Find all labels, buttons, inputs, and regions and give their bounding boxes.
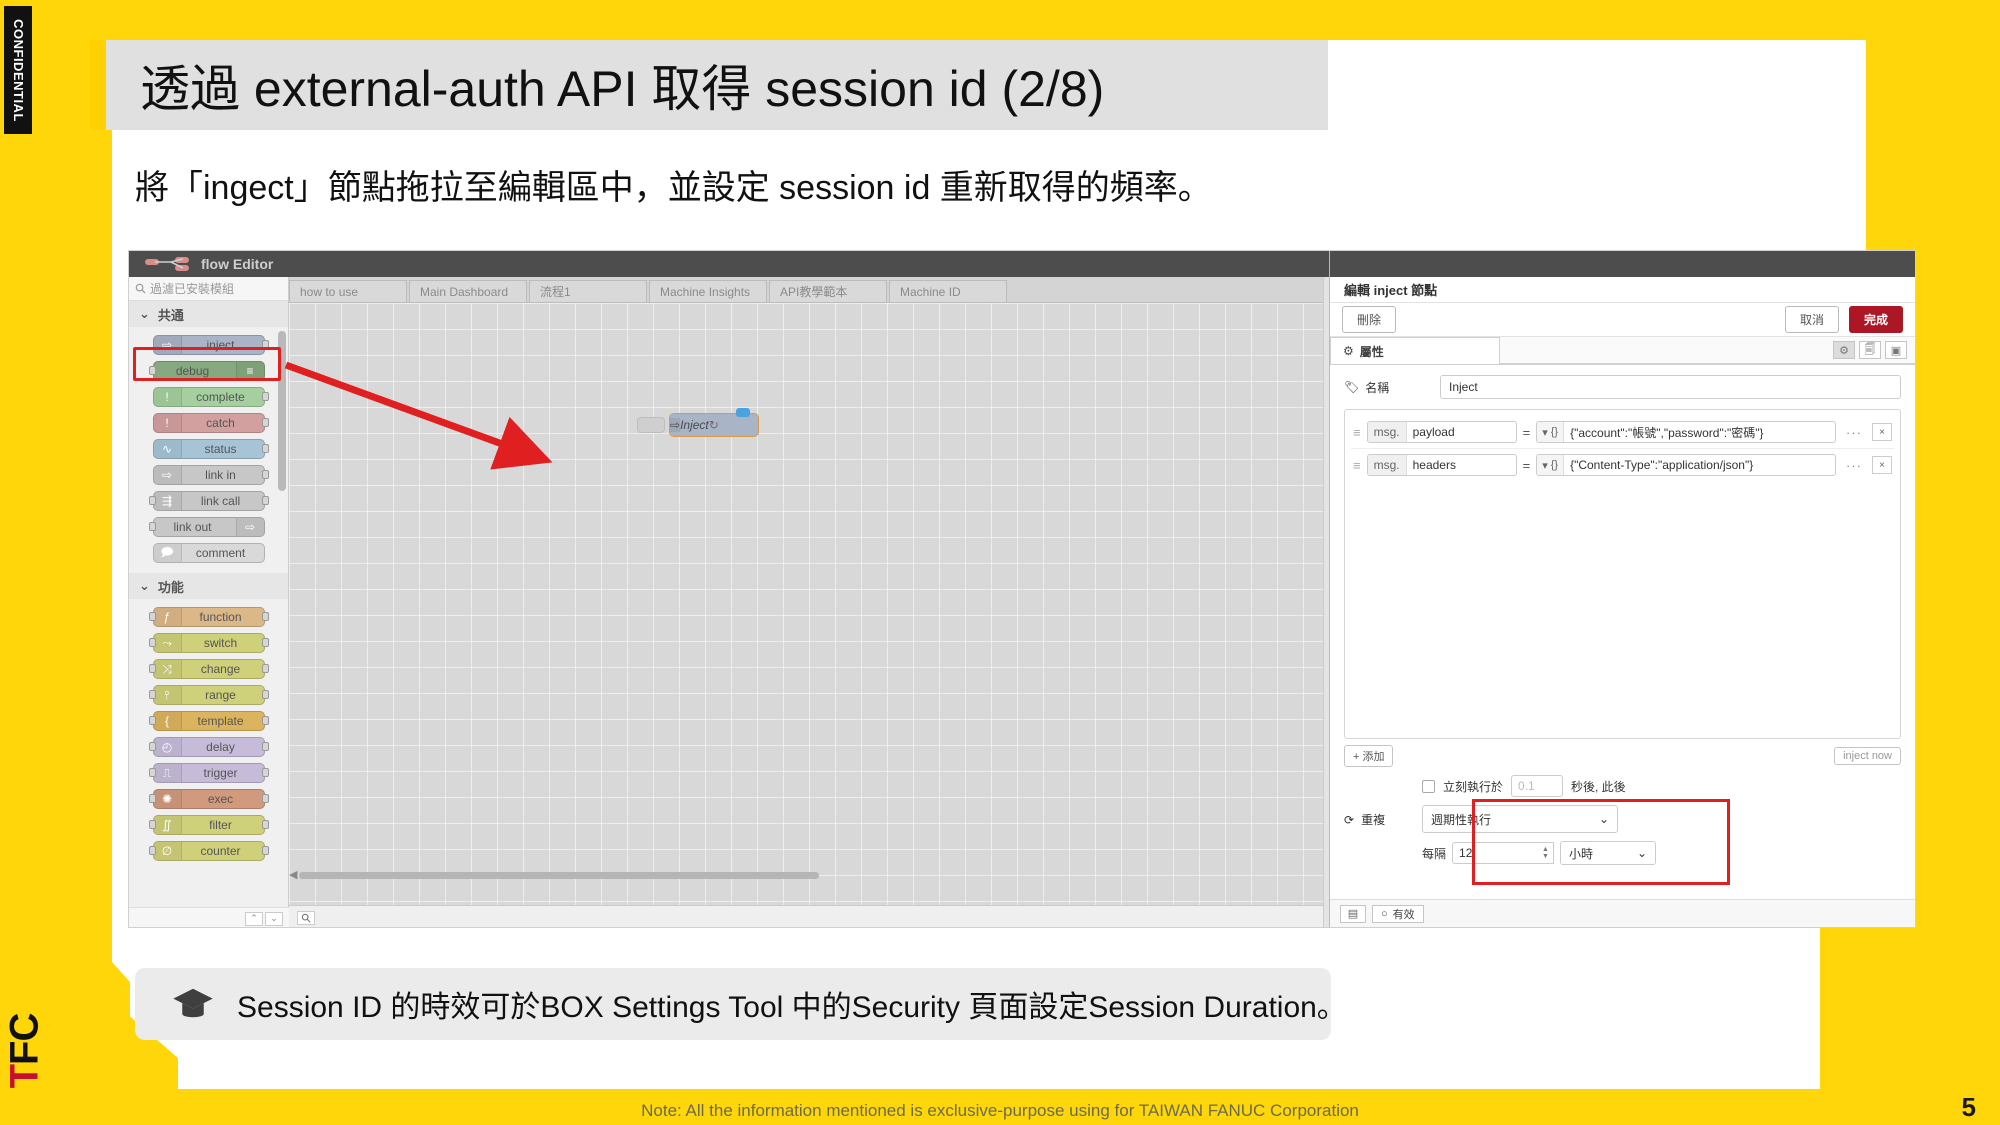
palette-node-switch[interactable]: ⤳ switch [153,633,265,653]
property-remove-button[interactable]: × [1872,423,1892,441]
inject-arrow-icon: ⇨ [670,418,680,432]
palette-node-range[interactable]: ⫯ range [153,685,265,705]
node-output-port [262,768,269,777]
tip-callout-text: Session ID 的時效可於BOX Settings Tool 中的Secu… [237,982,1347,1026]
flow-tab-bar: how to use Main Dashboard 流程1 Machine In… [289,277,1323,303]
page-number: 5 [1962,1092,1976,1123]
gear-icon[interactable]: ⚙ [1833,341,1855,359]
property-row-payload: ≡ msg. payload = ▾ {} {"account":"帳號","p… [1351,416,1894,449]
tab-flow-1[interactable]: 流程1 [529,280,647,302]
value-type-selector[interactable]: ▾ {} [1537,455,1564,475]
canvas-node-inject[interactable]: ⇨ Inject ↻ [669,413,759,437]
node-status-badge [736,408,750,417]
delete-button[interactable]: 刪除 [1342,306,1396,333]
palette-node-delay[interactable]: ◴ delay [153,737,265,757]
palette-node-label: catch [182,416,264,430]
graduation-cap-icon [171,987,215,1021]
palette-node-label: change [182,662,264,676]
palette-node-trigger[interactable]: ⎍ trigger [153,763,265,783]
immediate-delay-value: 0.1 [1518,779,1535,793]
palette-node-label: exec [182,792,264,806]
link-arrow-icon: ⇨ [236,518,264,536]
property-expand-icon[interactable]: ··· [1842,425,1866,440]
chevron-down-icon: ⌄ [139,578,150,594]
palette-node-label: comment [182,546,264,560]
editor-footer: ▤ ○ 有效 [1330,899,1916,927]
editor-tab-filler [1500,337,1825,364]
change-swap-icon: ⤨ [154,660,182,678]
tfc-logo-t: T [2,1065,46,1088]
palette-group-common[interactable]: ⌄ 共通 [129,301,288,327]
top-yellow-strip [0,0,2000,40]
property-key: payload [1407,425,1461,439]
name-field-label-group: 🏷 名稱 [1344,379,1430,396]
name-input[interactable]: Inject [1440,375,1901,399]
name-field-label: 名稱 [1365,379,1389,396]
link-arrow-icon: ⇨ [154,466,182,484]
node-input-port [149,846,156,855]
counter-icon: ∅ [154,842,182,860]
palette-node-label: link in [182,468,264,482]
palette-node-label: function [182,610,264,624]
palette-node-link-in[interactable]: ⇨ link in [153,465,265,485]
editor-tab-icon-group: ⚙ 🗐 ▣ [1825,337,1915,364]
tab-label: 流程1 [540,283,571,300]
flow-canvas[interactable]: ⇨ Inject ↻ ◀ [289,303,1323,905]
property-value-payload[interactable]: ▾ {} {"account":"帳號","password":"密碼"} [1536,421,1836,443]
repeat-label: 重複 [1361,811,1385,828]
node-input-port [149,366,156,375]
repeat-interval-input[interactable]: 12 [1452,842,1538,864]
node-red-title: flow Editor [201,256,273,272]
pulse-square-icon: ⎍ [154,764,182,782]
palette-node-counter[interactable]: ∅ counter [153,841,265,861]
value-type-selector[interactable]: ▾ {} [1537,422,1564,442]
collapse-all-icon[interactable]: ⌃ [245,912,263,926]
property-value-text: {"Content-Type":"application/json"} [1564,458,1759,472]
palette-node-label: delay [182,740,264,754]
inject-now-button[interactable]: inject now [1834,747,1901,765]
property-prefix: msg. [1368,455,1407,475]
schedule-section: 立刻執行於 0.1 秒後, 此後 ⟳ 重複 週期性執行 ⌄ [1330,767,1915,865]
slide: CONFIDENTIAL TFC 透過 external-auth API 取得… [0,0,2000,1125]
tab-api-template[interactable]: API教學範本 [769,280,887,302]
page-title: 透過 external-auth API 取得 session id (2/8) [140,49,1104,121]
repeat-unit-value: 小時 [1569,845,1593,862]
palette-search-placeholder: 過濾已安裝模組 [150,280,234,297]
alert-icon: ! [154,414,182,432]
repeat-label-group: ⟳ 重複 [1344,805,1414,828]
node-output-port [262,742,269,751]
palette-node-label: link call [182,494,264,508]
palette-scroll-area[interactable]: ⌄ 共通 ⇨ inject debug [129,301,288,881]
palette-node-label: switch [182,636,264,650]
property-expand-icon[interactable]: ··· [1842,458,1866,473]
tab-label: Machine Insights [660,285,750,299]
node-output-port [262,392,269,401]
palette-node-label: filter [182,818,264,832]
switch-branch-icon: ⤳ [154,634,182,652]
immediate-inject-prefix: 立刻執行於 [1443,778,1503,795]
comment-bubble-icon: 🗩 [154,544,182,562]
link-call-icon: ⇶ [154,492,182,510]
immediate-delay-input[interactable]: 0.1 [1511,775,1563,797]
palette-group-function[interactable]: ⌄ 功能 [129,573,288,599]
repeat-controls: 週期性執行 ⌄ 每隔 12 ▲▼ [1422,805,1656,865]
node-output-port [262,496,269,505]
done-button[interactable]: 完成 [1849,306,1903,333]
node-red-screenshot: flow Editor 過濾已安裝模組 ⌄ 共通 [128,250,1916,928]
properties-footer: + 添加 inject now [1344,745,1901,767]
palette-node-catch[interactable]: ! catch [153,413,265,433]
value-type-label: {} [1551,426,1558,438]
chevron-down-icon: ⌄ [139,306,150,322]
circle-icon: ○ [1381,908,1388,920]
node-output-port [262,794,269,803]
node-red-body: 過濾已安裝模組 ⌄ 共通 ⇨ inject [129,277,1329,928]
template-brace-icon: { [154,712,182,730]
function-f-icon: ƒ [154,608,182,626]
property-key-headers[interactable]: msg. headers [1367,454,1517,476]
editor-tab-bar: ⚙ 屬性 ⚙ 🗐 ▣ [1330,337,1915,365]
tag-icon: 🏷 [1344,380,1359,394]
palette-items-function: ƒ function ⤳ switch [129,599,288,871]
node-input-port [149,664,156,673]
tab-machine-id[interactable]: Machine ID [889,280,1007,302]
node-output-port [262,846,269,855]
canvas-scroll-left-icon[interactable]: ◀ [289,868,297,881]
chevron-down-icon: ▾ [1542,459,1548,472]
gear-icon: ⚙ [1343,344,1354,358]
palette-node-label: link out [154,520,236,534]
tab-properties-label: 屬性 [1360,343,1384,360]
pin-icon[interactable]: ▤ [1340,905,1366,923]
palette-group-function-label: 功能 [158,577,184,596]
canvas-drag-ghost [637,417,665,433]
node-input-port [149,612,156,621]
node-output-port [262,716,269,725]
chevron-down-icon: ▾ [1542,426,1548,439]
node-output-port [262,444,269,453]
tip-callout: Session ID 的時效可於BOX Settings Tool 中的Secu… [135,968,1331,1040]
node-input-port [149,638,156,647]
palette-scrollbar[interactable] [278,331,286,491]
title-accent-bar [90,40,106,130]
inject-arrow-icon: ⇨ [154,336,182,354]
palette-node-change[interactable]: ⤨ change [153,659,265,679]
title-box: 透過 external-auth API 取得 session id (2/8) [106,40,1328,130]
canvas-footer [289,905,1323,928]
tab-how-to-use[interactable]: how to use [289,280,407,302]
tfc-logo-fc: FC [2,1014,46,1065]
palette-node-inject[interactable]: ⇨ inject [153,335,265,355]
property-prefix: msg. [1368,422,1407,442]
palette-items-common: ⇨ inject debug ≡ ! complet [129,327,288,573]
pulse-icon: ∿ [154,440,182,458]
palette-node-label: inject [182,338,264,352]
palette-node-status[interactable]: ∿ status [153,439,265,459]
node-output-port [262,690,269,699]
palette-node-label: trigger [182,766,264,780]
tab-properties[interactable]: ⚙ 屬性 [1330,337,1500,364]
editor-topbar [1330,251,1915,277]
palette-node-label: status [182,442,264,456]
palette-node-function[interactable]: ƒ function [153,607,265,627]
equals-sign: = [1523,425,1531,440]
repeat-mode-select[interactable]: 週期性執行 ⌄ [1422,805,1618,833]
chevron-down-icon: ⌄ [1599,812,1609,826]
palette-node-label: complete [182,390,264,404]
property-value-headers[interactable]: ▾ {} {"Content-Type":"application/json"} [1536,454,1836,476]
enabled-toggle[interactable]: ○ 有效 [1372,905,1424,923]
name-field-row: 🏷 名稱 Inject [1344,375,1901,399]
repeat-interval-label: 每隔 [1422,845,1446,862]
gear-icon: ✺ [154,790,182,808]
value-type-label: {} [1551,459,1558,471]
chevron-down-icon: ⌄ [1637,846,1647,860]
repeat-mode-value: 週期性執行 [1431,811,1491,828]
palette-node-exec[interactable]: ✺ exec [153,789,265,809]
repeat-icon: ↻ [709,418,729,432]
palette-node-link-call[interactable]: ⇶ link call [153,491,265,511]
repeat-interval-stepper[interactable]: ▲▼ [1538,842,1554,864]
palette-footer: ⌃ ⌄ [129,907,289,928]
tfc-logo: TFC [2,1001,46,1101]
edit-inject-panel: 編輯 inject 節點 刪除 取消 完成 ⚙ 屬性 ⚙ 🗐 ▣ [1329,251,1915,927]
node-input-port [149,820,156,829]
confidential-label: CONFIDENTIAL [11,19,26,122]
editor-form: 🏷 名稱 Inject ≡ msg. payload = [1330,365,1915,767]
tab-label: Main Dashboard [420,285,508,299]
confidential-badge: CONFIDENTIAL [4,6,32,134]
node-input-port [149,716,156,725]
property-key: headers [1407,458,1462,472]
editor-action-bar: 刪除 取消 完成 [1330,303,1915,337]
expand-all-icon[interactable]: ⌄ [265,912,283,926]
palette-node-link-out[interactable]: link out ⇨ [153,517,265,537]
canvas-node-label: Inject [680,418,709,432]
repeat-row: ⟳ 重複 週期性執行 ⌄ 每隔 12 [1344,805,1901,865]
palette-search-input[interactable]: 過濾已安裝模組 [129,277,288,301]
drag-handle-icon[interactable]: ≡ [1353,458,1361,473]
property-key-payload[interactable]: msg. payload [1367,421,1517,443]
tab-main-dashboard[interactable]: Main Dashboard [409,280,527,302]
node-input-port [149,496,156,505]
editor-title: 編輯 inject 節點 [1330,277,1915,303]
flow-canvas-area: how to use Main Dashboard 流程1 Machine In… [289,277,1323,928]
alert-icon: ! [154,388,182,406]
property-row-headers: ≡ msg. headers = ▾ {} {"Content-Type":"a… [1351,449,1894,481]
immediate-inject-suffix: 秒後, 此後 [1571,778,1626,795]
palette-node-template[interactable]: { template [153,711,265,731]
palette-node-comment[interactable]: 🗩 comment [153,543,265,563]
description-icon[interactable]: 🗐 [1859,341,1881,359]
node-red-header: flow Editor [129,251,1329,277]
repeat-interval-value: 12 [1459,846,1472,860]
range-icon: ⫯ [154,686,182,704]
node-output-port [262,612,269,621]
node-output-port [262,340,269,349]
palette-node-debug[interactable]: debug ≡ [153,361,265,381]
tab-label: how to use [300,285,358,299]
node-input-port [149,690,156,699]
left-yellow-strip [0,0,130,1125]
drag-handle-icon[interactable]: ≡ [1353,425,1361,440]
debug-list-icon: ≡ [236,362,264,380]
equals-sign: = [1523,458,1531,473]
palette-node-label: template [182,714,264,728]
properties-list: ≡ msg. payload = ▾ {} {"account":"帳號","p… [1344,409,1901,739]
repeat-icon: ⟳ [1344,813,1354,827]
node-output-port [262,820,269,829]
node-output-port [262,418,269,427]
palette-node-complete[interactable]: ! complete [153,387,265,407]
cancel-button[interactable]: 取消 [1785,306,1839,333]
immediate-inject-row: 立刻執行於 0.1 秒後, 此後 [1344,775,1901,797]
tab-label: Machine ID [900,285,961,299]
node-output-port [262,470,269,479]
palette-group-common-label: 共通 [158,305,184,324]
node-output-port [262,638,269,647]
filter-icon: ∬ [154,816,182,834]
enabled-label: 有效 [1393,906,1415,922]
footer-note: Note: All the information mentioned is e… [0,1101,2000,1121]
node-input-port [149,794,156,803]
palette-node-filter[interactable]: ∬ filter [153,815,265,835]
palette-node-label: counter [182,844,264,858]
property-value-text: {"account":"帳號","password":"密碼"} [1564,424,1769,441]
clock-icon: ◴ [154,738,182,756]
name-input-value: Inject [1449,380,1478,394]
canvas-search-icon[interactable] [297,911,315,925]
page-subtitle: 將「ingect」節點拖拉至編輯區中，並設定 session id 重新取得的頻… [135,160,1212,209]
appearance-icon[interactable]: ▣ [1885,341,1907,359]
node-input-port [149,742,156,751]
node-red-main-area: flow Editor 過濾已安裝模組 ⌄ 共通 [129,251,1329,927]
node-input-port [149,522,156,531]
node-input-port [149,768,156,777]
immediate-inject-checkbox[interactable] [1422,780,1435,793]
repeat-interval-group: 每隔 12 ▲▼ 小時 ⌄ [1422,841,1656,865]
palette: 過濾已安裝模組 ⌄ 共通 ⇨ inject [129,277,289,928]
add-property-button[interactable]: + 添加 [1344,745,1393,767]
node-red-logo-icon [145,257,191,271]
node-output-port [262,664,269,673]
tab-machine-insights[interactable]: Machine Insights [649,280,767,302]
tab-label: API教學範本 [780,283,847,300]
palette-node-label: debug [154,364,236,378]
slide-title-block: 透過 external-auth API 取得 session id (2/8) [90,40,1328,130]
property-remove-button[interactable]: × [1872,456,1892,474]
repeat-unit-select[interactable]: 小時 ⌄ [1560,841,1656,865]
search-icon [135,283,146,294]
palette-node-label: range [182,688,264,702]
canvas-horizontal-scrollbar[interactable] [299,872,819,879]
